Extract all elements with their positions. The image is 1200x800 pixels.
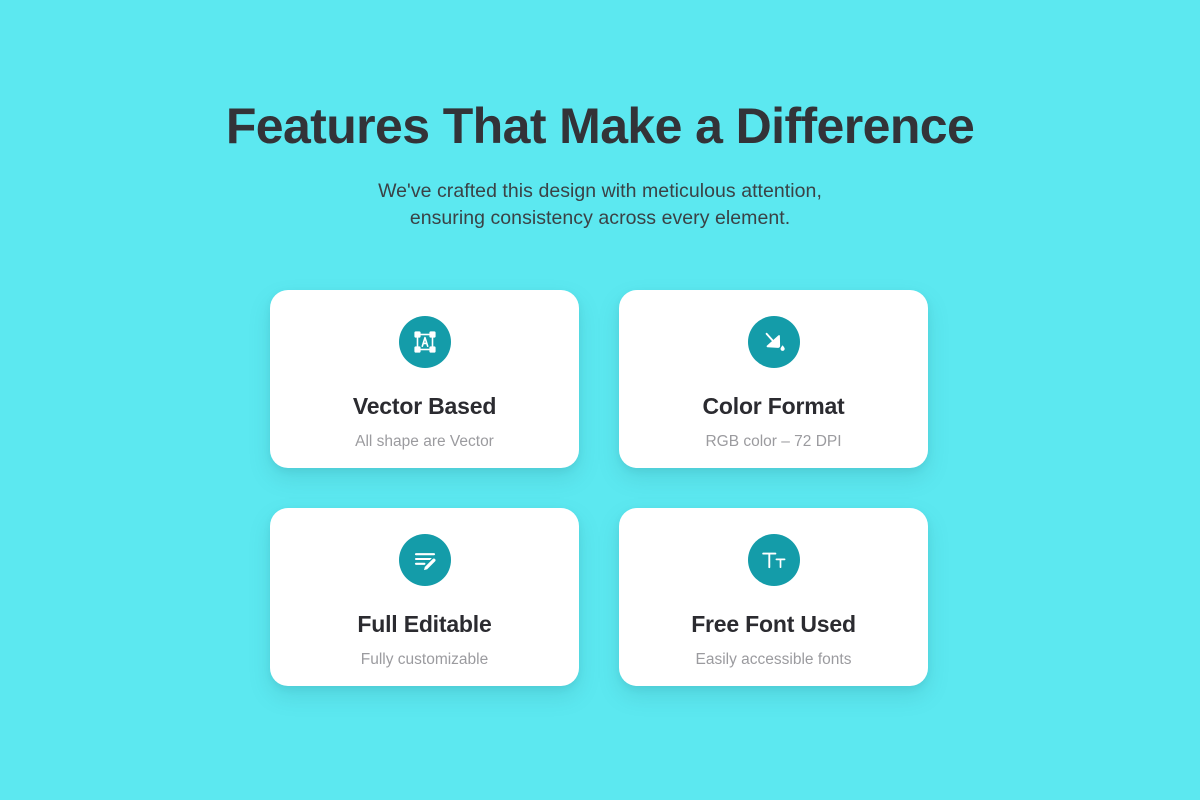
page-subtitle: We've crafted this design with meticulou… [0,178,1200,232]
feature-card-free-font-used[interactable]: Free Font Used Easily accessible fonts [619,508,928,686]
feature-card-grid: Vector Based All shape are Vector Color … [270,290,928,686]
feature-card-full-editable[interactable]: Full Editable Fully customizable [270,508,579,686]
page-title: Features That Make a Difference [0,96,1200,156]
section-header: Features That Make a Difference We've cr… [0,96,1200,232]
feature-card-color-format[interactable]: Color Format RGB color – 72 DPI [619,290,928,468]
feature-card-title: Free Font Used [691,586,856,638]
page-subtitle-line-1: We've crafted this design with meticulou… [0,178,1200,205]
feature-card-description: Fully customizable [361,638,489,670]
feature-card-title: Color Format [703,368,845,420]
page-subtitle-line-2: ensuring consistency across every elemen… [0,205,1200,232]
feature-card-title: Vector Based [353,368,496,420]
feature-card-title: Full Editable [357,586,491,638]
vector-artboard-icon [399,316,451,368]
typography-icon [748,534,800,586]
feature-section: Features That Make a Difference We've cr… [0,0,1200,800]
paint-bucket-icon [748,316,800,368]
feature-card-description: Easily accessible fonts [696,638,852,670]
feature-card-description: RGB color – 72 DPI [705,420,841,452]
edit-pencil-icon [399,534,451,586]
feature-card-vector-based[interactable]: Vector Based All shape are Vector [270,290,579,468]
feature-card-description: All shape are Vector [355,420,494,452]
